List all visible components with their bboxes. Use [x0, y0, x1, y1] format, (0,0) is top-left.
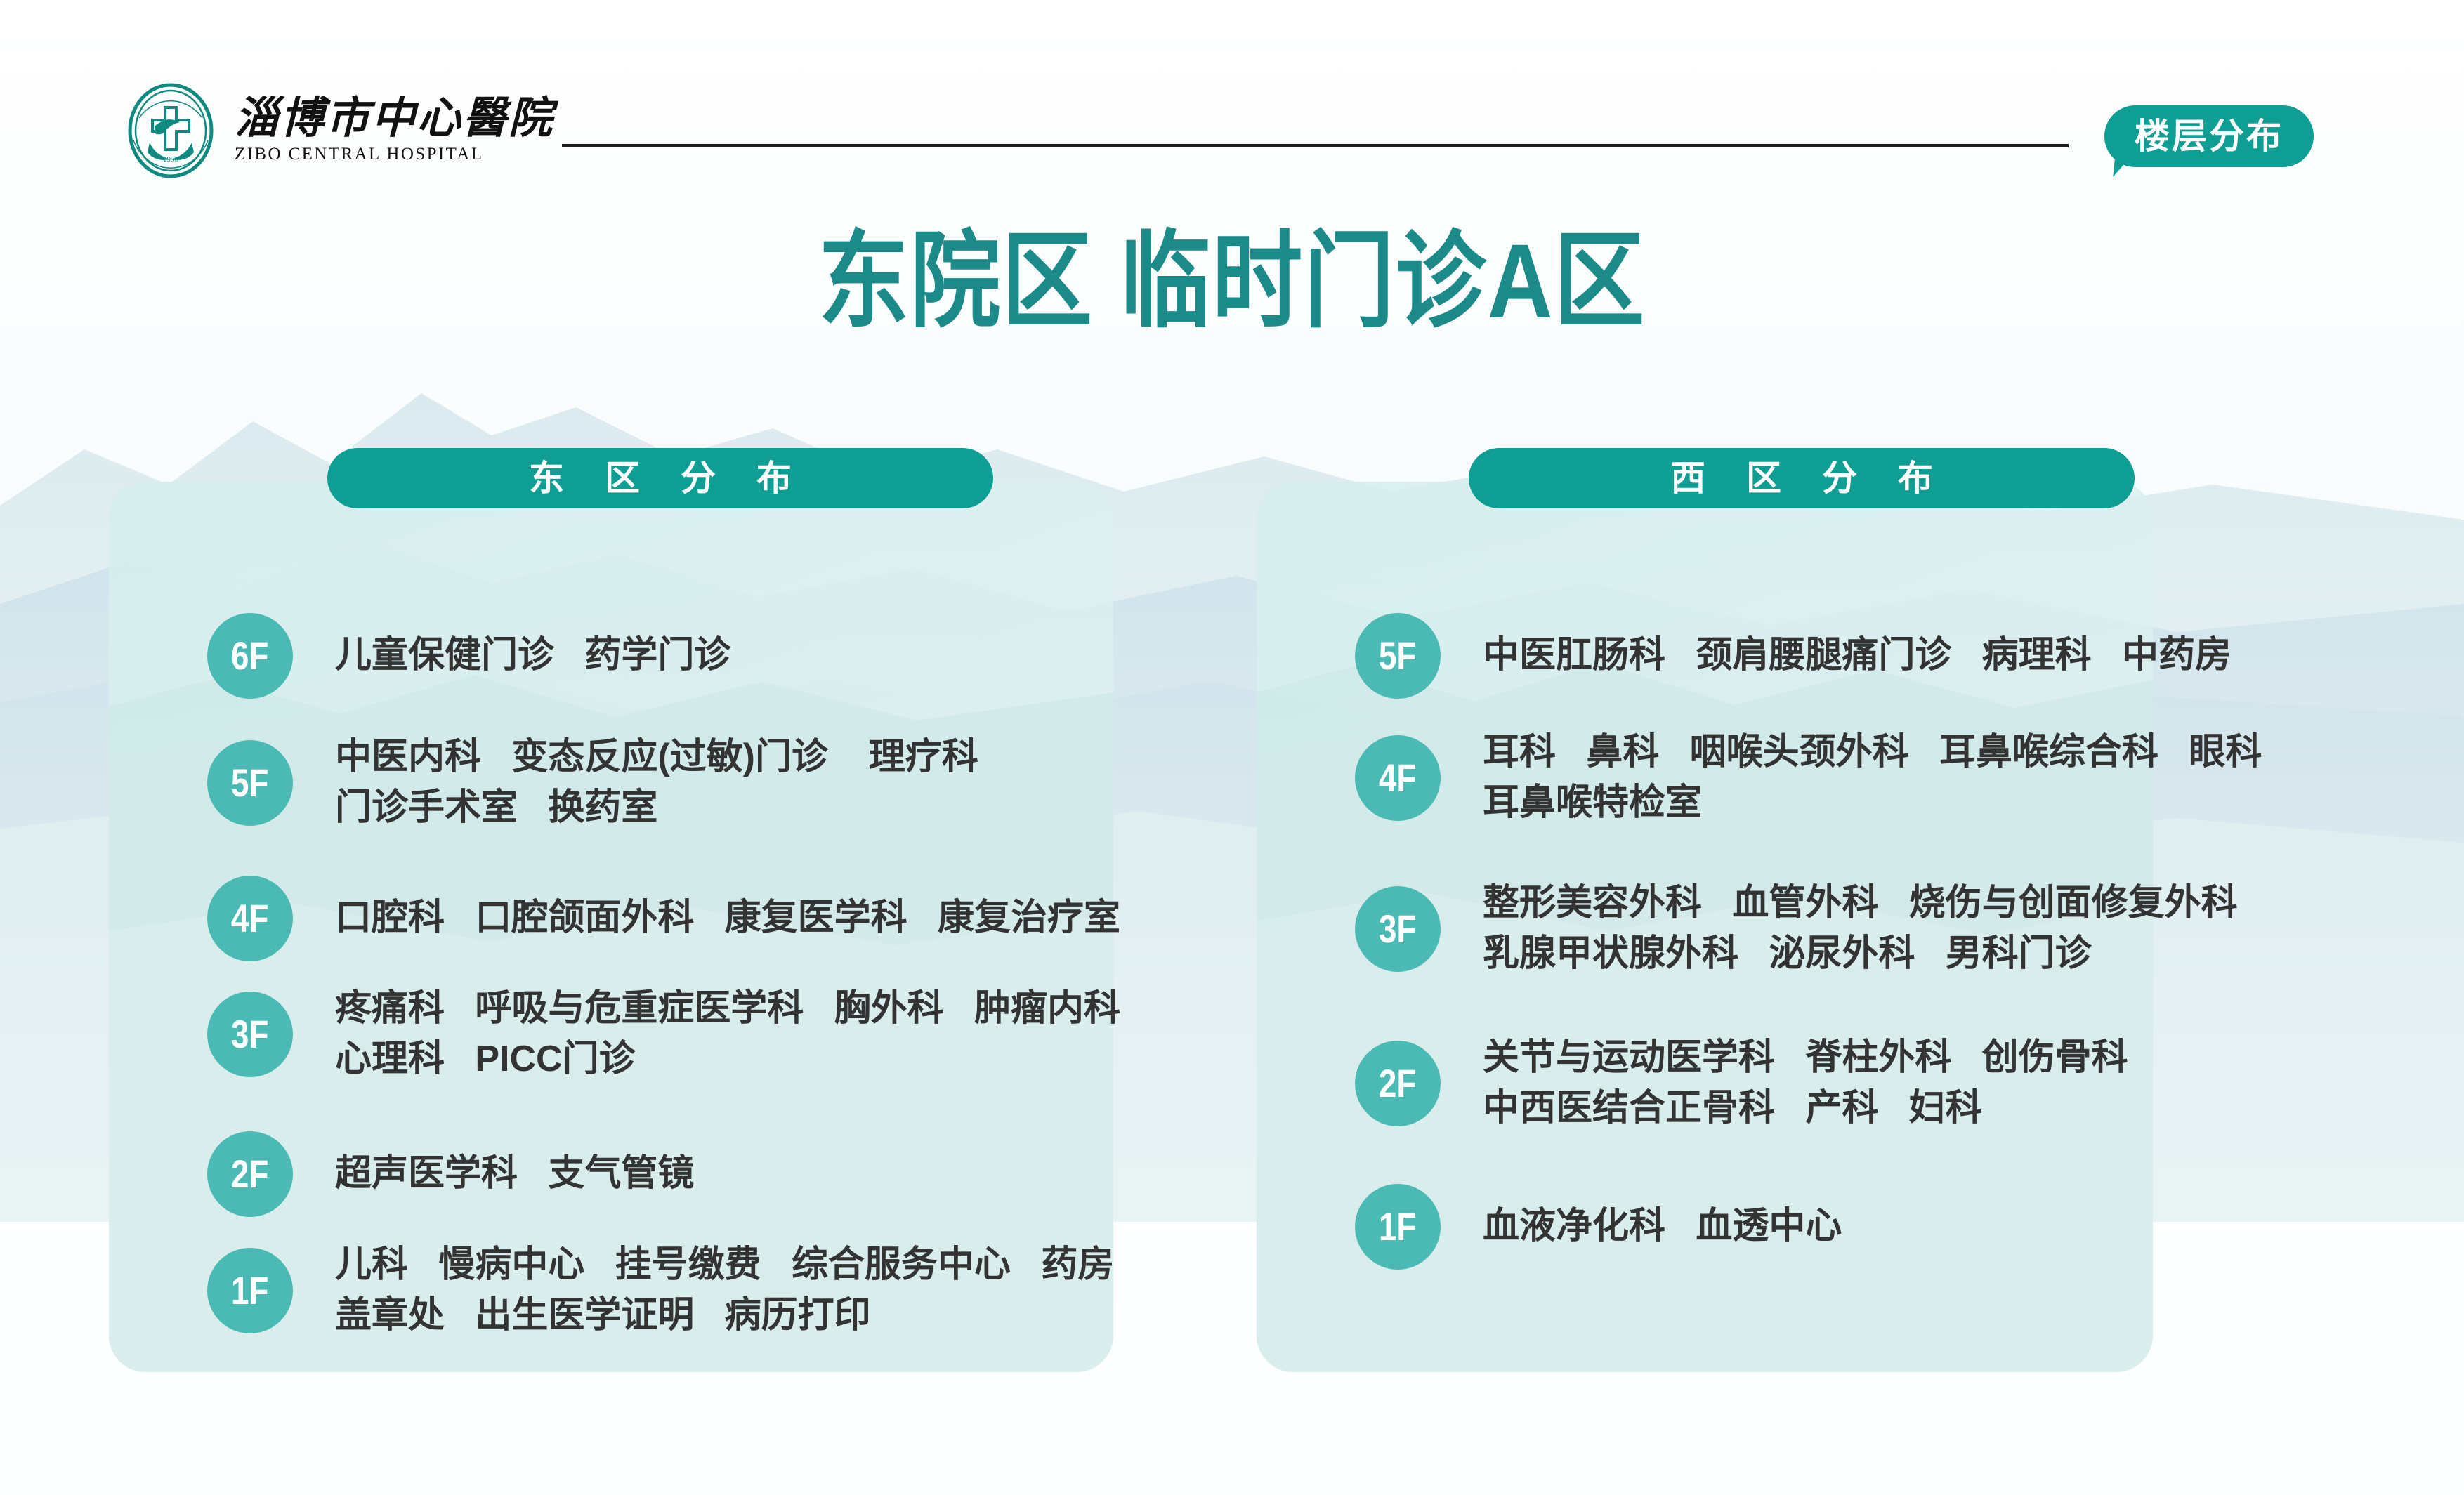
floor-row[interactable]: 2F 超声医学科 支气管镜	[207, 1131, 694, 1217]
floor-department-line: 耳科 鼻科 咽喉头颈外科 耳鼻喉综合科 眼科	[1483, 727, 2262, 778]
floor-departments: 口腔科 口腔颌面外科 康复医学科 康复治疗室	[335, 893, 1120, 944]
floor-level-label: 5F	[231, 763, 269, 803]
floor-departments: 耳科 鼻科 咽喉头颈外科 耳鼻喉综合科 眼科 耳鼻喉特检室	[1483, 727, 2262, 829]
floor-department-line: 心理科 PICC门诊	[335, 1034, 1120, 1085]
floor-row[interactable]: 6F 儿童保健门诊 药学门诊	[207, 613, 730, 699]
floor-level-label: 4F	[231, 899, 269, 938]
floor-badge: 3F	[207, 992, 293, 1077]
floor-department-line: 整形美容外科 血管外科 烧伤与创面修复外科	[1483, 878, 2238, 929]
floor-department-line: 中医肛肠科 颈肩腰腿痛门诊 病理科 中药房	[1483, 631, 2232, 681]
floor-badge: 2F	[1355, 1041, 1441, 1126]
floor-departments: 儿童保健门诊 药学门诊	[335, 631, 730, 681]
floor-badge: 3F	[1355, 886, 1441, 972]
section-title-east-label: 东 区 分 布	[513, 461, 807, 496]
floor-departments: 超声医学科 支气管镜	[335, 1149, 694, 1199]
logo-english-name: ZIBO CENTRAL HOSPITAL	[235, 144, 554, 165]
floor-departments: 整形美容外科 血管外科 烧伤与创面修复外科 乳腺甲状腺外科 泌尿外科 男科门诊	[1483, 878, 2238, 980]
floor-departments: 血液净化科 血透中心	[1483, 1201, 1842, 1252]
page-title: 东院区 临时门诊A区	[0, 223, 2464, 339]
floor-level-label: 5F	[1379, 636, 1417, 676]
floor-badge: 2F	[207, 1131, 293, 1217]
floor-department-line: 儿童保健门诊 药学门诊	[335, 631, 730, 681]
floor-departments: 中医肛肠科 颈肩腰腿痛门诊 病理科 中药房	[1483, 631, 2232, 681]
floor-department-line: 儿科 慢病中心 挂号缴费 综合服务中心 药房	[335, 1240, 1114, 1291]
floor-row[interactable]: 4F 耳科 鼻科 咽喉头颈外科 耳鼻喉综合科 眼科 耳鼻喉特检室	[1355, 727, 2262, 829]
floor-departments: 儿科 慢病中心 挂号缴费 综合服务中心 药房 盖章处 出生医学证明 病历打印	[335, 1240, 1114, 1341]
floor-department-line: 关节与运动医学科 脊柱外科 创伤骨科	[1483, 1033, 2128, 1084]
section-title-west-label: 西 区 分 布	[1655, 461, 1948, 496]
floor-badge: 5F	[1355, 613, 1441, 699]
floor-row[interactable]: 5F 中医肛肠科 颈肩腰腿痛门诊 病理科 中药房	[1355, 613, 2232, 699]
floor-department-line: 门诊手术室 换药室	[335, 783, 978, 834]
logo-chinese-name: 淄博市中心醫院	[235, 96, 554, 142]
floor-row[interactable]: 5F 中医内科 变态反应(过敏)门诊 理疗科 门诊手术室 换药室	[207, 732, 978, 834]
page-header: 1950 淄博市中心醫院 ZIBO CENTRAL HOSPITAL 楼层分布	[0, 0, 2464, 211]
floor-distribution-badge: 楼层分布	[2104, 105, 2314, 167]
floor-department-line: 口腔科 口腔颌面外科 康复医学科 康复治疗室	[335, 893, 1120, 944]
svg-text:1950: 1950	[163, 155, 179, 164]
floor-departments: 关节与运动医学科 脊柱外科 创伤骨科 中西医结合正骨科 产科 妇科	[1483, 1033, 2128, 1134]
floor-badge: 4F	[207, 876, 293, 961]
floor-row[interactable]: 1F 儿科 慢病中心 挂号缴费 综合服务中心 药房 盖章处 出生医学证明 病历打…	[207, 1240, 1114, 1341]
floor-level-label: 3F	[1379, 909, 1417, 949]
floor-row[interactable]: 4F 口腔科 口腔颌面外科 康复医学科 康复治疗室	[207, 876, 1120, 961]
floor-department-line: 超声医学科 支气管镜	[335, 1149, 694, 1199]
floor-departments: 疼痛科 呼吸与危重症医学科 胸外科 肿瘤内科 心理科 PICC门诊	[335, 984, 1120, 1085]
section-title-east: 东 区 分 布	[327, 448, 993, 508]
header-divider	[562, 144, 2069, 147]
hospital-emblem-icon: 1950	[126, 83, 215, 178]
floor-row[interactable]: 3F 疼痛科 呼吸与危重症医学科 胸外科 肿瘤内科 心理科 PICC门诊	[207, 984, 1120, 1085]
floor-level-label: 2F	[231, 1154, 269, 1194]
floor-level-label: 6F	[231, 636, 269, 676]
floor-row[interactable]: 3F 整形美容外科 血管外科 烧伤与创面修复外科 乳腺甲状腺外科 泌尿外科 男科…	[1355, 878, 2238, 980]
floor-badge: 6F	[207, 613, 293, 699]
floor-department-line: 耳鼻喉特检室	[1483, 778, 2262, 829]
floor-department-line: 中医内科 变态反应(过敏)门诊 理疗科	[335, 732, 978, 783]
floor-department-line: 血液净化科 血透中心	[1483, 1201, 1842, 1252]
floor-badge: 4F	[1355, 735, 1441, 821]
floor-department-line: 盖章处 出生医学证明 病历打印	[335, 1291, 1114, 1341]
floor-level-label: 4F	[1379, 758, 1417, 798]
floor-distribution-badge-label: 楼层分布	[2135, 119, 2283, 154]
floor-level-label: 1F	[1379, 1207, 1417, 1246]
hospital-logo: 1950 淄博市中心醫院 ZIBO CENTRAL HOSPITAL	[126, 83, 554, 178]
floor-departments: 中医内科 变态反应(过敏)门诊 理疗科 门诊手术室 换药室	[335, 732, 978, 834]
floor-badge: 5F	[207, 740, 293, 826]
section-title-west: 西 区 分 布	[1469, 448, 2135, 508]
page-title-text: 东院区 临时门诊A区	[818, 223, 1646, 339]
floor-department-line: 乳腺甲状腺外科 泌尿外科 男科门诊	[1483, 929, 2238, 980]
floor-department-line: 疼痛科 呼吸与危重症医学科 胸外科 肿瘤内科	[335, 984, 1120, 1034]
floor-level-label: 3F	[231, 1015, 269, 1054]
floor-level-label: 1F	[231, 1271, 269, 1310]
floor-row[interactable]: 2F 关节与运动医学科 脊柱外科 创伤骨科 中西医结合正骨科 产科 妇科	[1355, 1033, 2128, 1134]
floor-department-line: 中西医结合正骨科 产科 妇科	[1483, 1084, 2128, 1134]
floor-level-label: 2F	[1379, 1064, 1417, 1103]
floor-badge: 1F	[207, 1248, 293, 1333]
floor-badge: 1F	[1355, 1184, 1441, 1270]
floor-row[interactable]: 1F 血液净化科 血透中心	[1355, 1184, 1842, 1270]
